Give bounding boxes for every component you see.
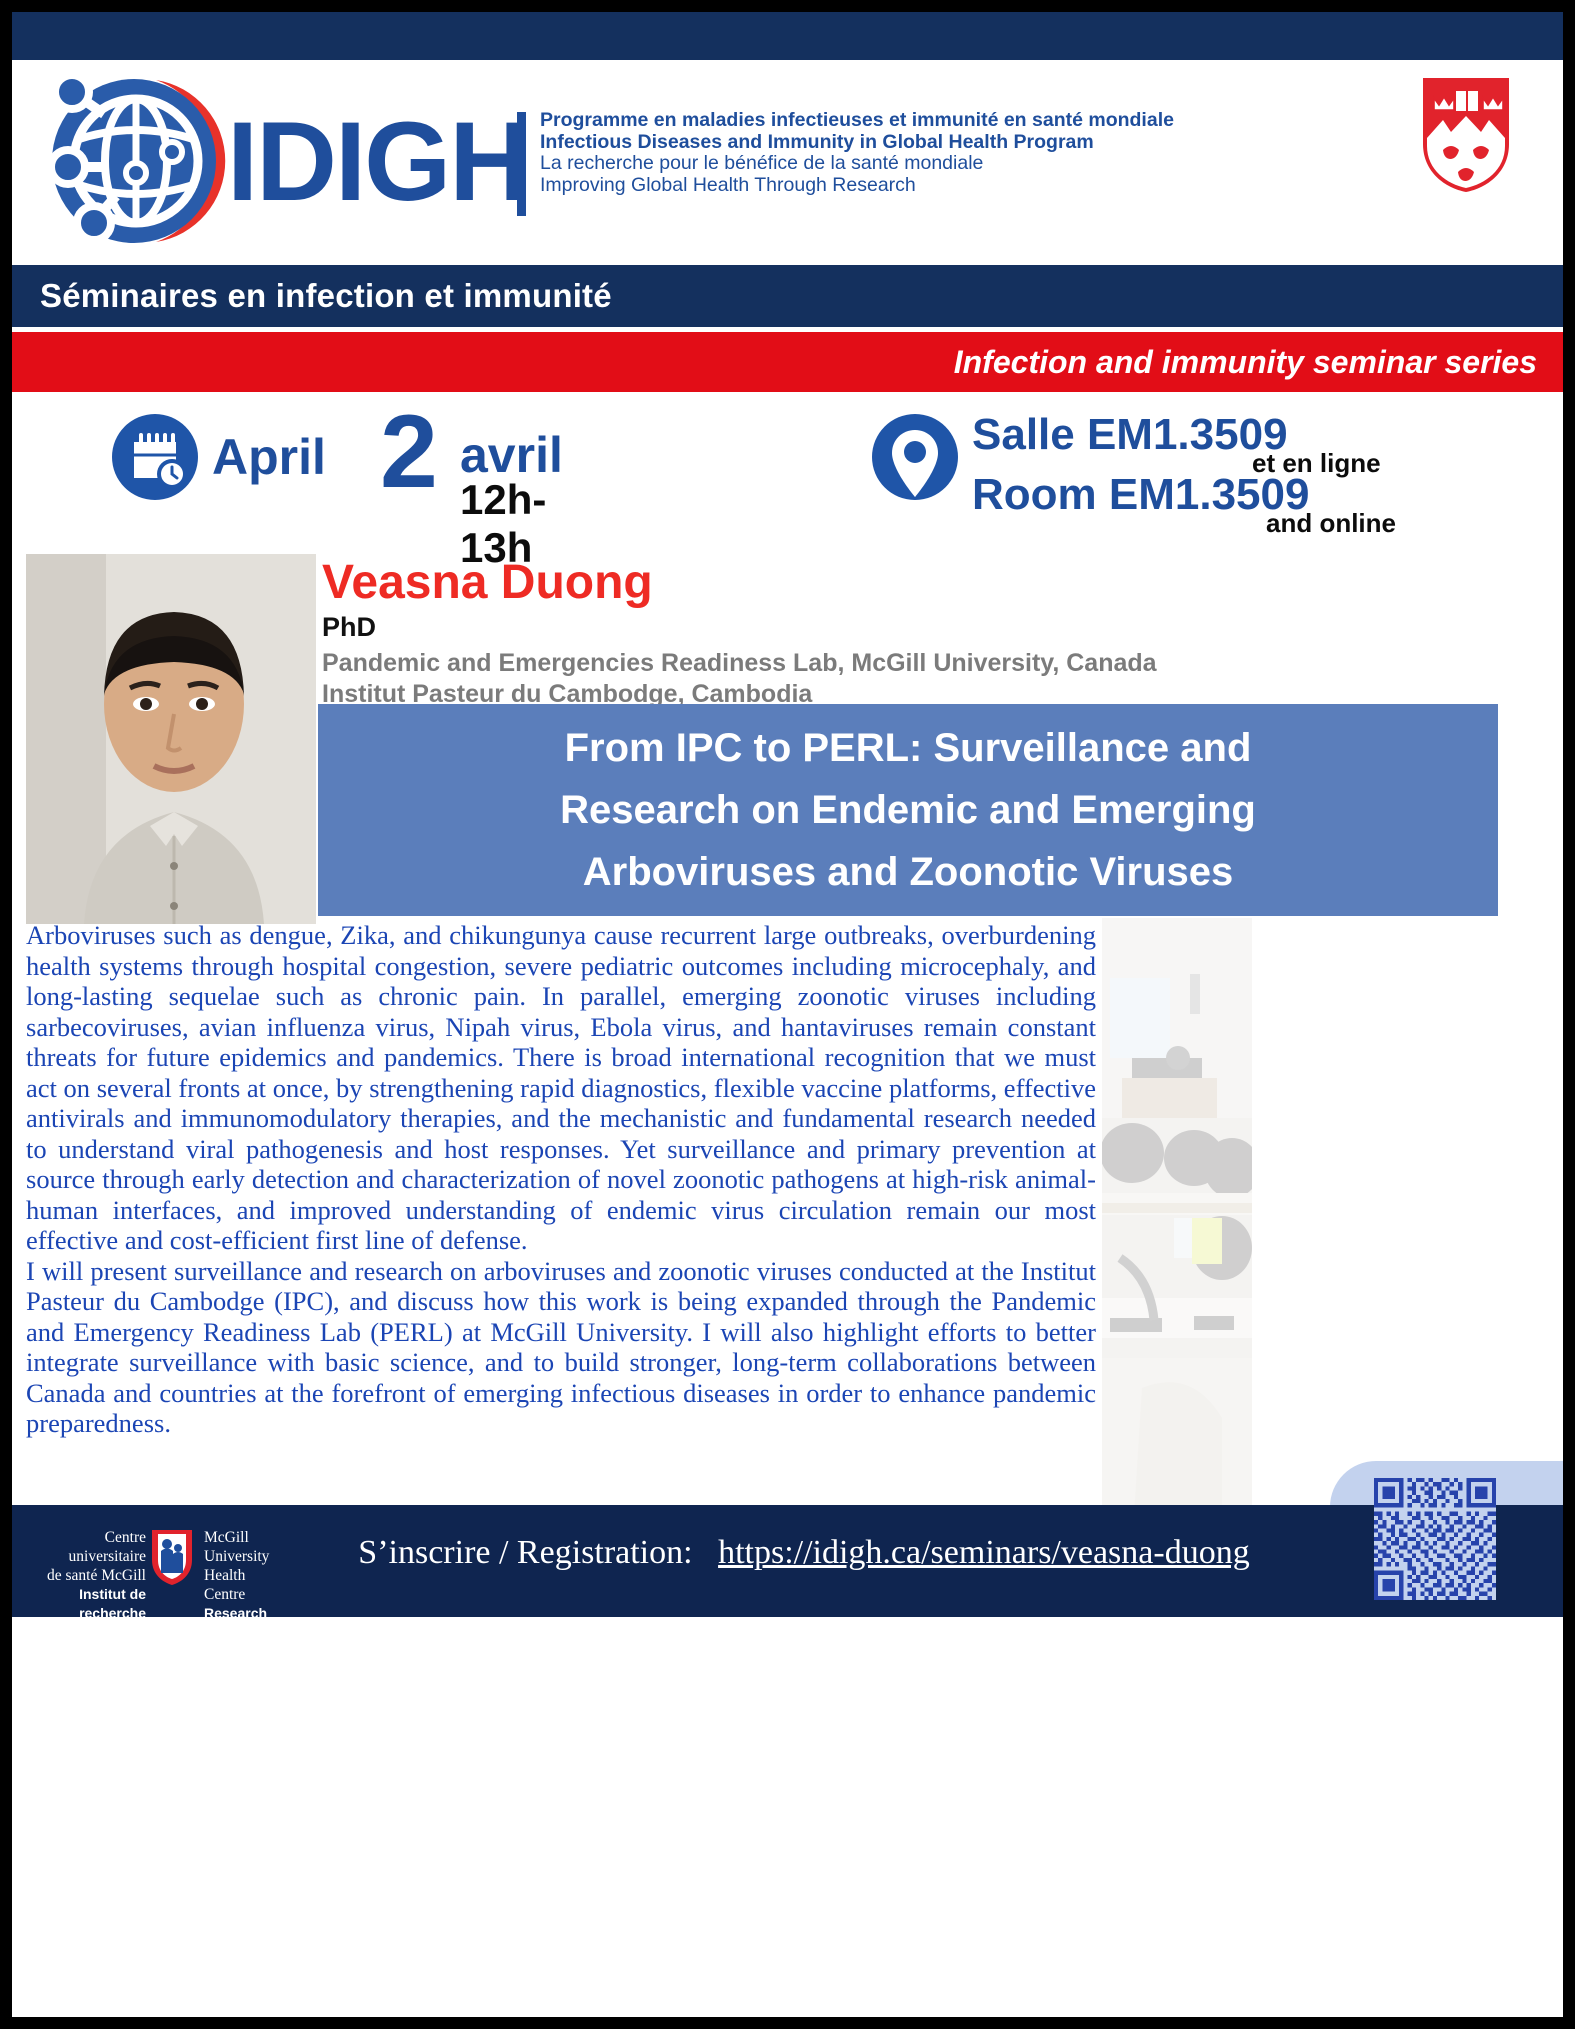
muhc-en-line-2: Health Centre [204,1566,282,1604]
tagline-fr: La recherche pour le bénéfice de la sant… [540,153,1174,175]
muhc-text-fr: Centre universitaire de santé McGill Ins… [32,1528,146,1623]
speaker-degree: PhD [322,612,376,643]
speaker-photo [26,554,316,924]
muhc-fr-line-3: Institut de recherche [32,1585,146,1623]
abstract-text: Arboviruses such as dengue, Zika, and ch… [26,920,1096,1439]
registration-link[interactable]: https://idigh.ca/seminars/veasna-duong [718,1534,1250,1571]
room-label-en: Room EM1.3509 [972,470,1309,520]
talk-title-line-3: Arboviruses and Zoonotic Viruses [318,841,1498,903]
series-band-en: Infection and immunity seminar series [12,332,1563,392]
muhc-fr-line-2: de santé McGill [32,1566,146,1585]
talk-title-panel: From IPC to PERL: Surveillance and Resea… [318,704,1498,916]
room-note-en: and online [1266,508,1396,539]
calendar-clock-icon [112,414,198,500]
program-name-en: Infectious Diseases and Immunity in Glob… [540,132,1174,154]
speaker-affiliation-1: Pandemic and Emergencies Readiness Lab, … [322,649,1157,678]
program-subtitle-block: Programme en maladies infectieuses et im… [540,110,1174,196]
muhc-logo: Centre universitaire de santé McGill Ins… [32,1528,282,1590]
seminar-poster: IDIGH Programme en maladies infectieuses… [0,0,1575,2029]
talk-title-line-2: Research on Endemic and Emerging [318,779,1498,841]
speaker-name: Veasna Duong [322,555,653,610]
series-band-fr: Séminaires en infection et immunité [12,265,1563,327]
registration-label: S’inscrire / Registration: [358,1534,692,1571]
muhc-fr-line-1: Centre universitaire [32,1528,146,1566]
program-name-fr: Programme en maladies infectieuses et im… [540,110,1174,132]
muhc-en-line-3: Research Institute [204,1604,282,1642]
abstract-paragraph-1: Arboviruses such as dengue, Zika, and ch… [26,920,1096,1256]
muhc-shield-icon [150,1528,194,1586]
idigh-wordmark: IDIGH [227,106,528,218]
wordmark-divider [517,112,526,216]
muhc-en-line-1: McGill University [204,1528,282,1566]
logo-header: IDIGH Programme en maladies infectieuses… [12,60,1563,260]
qr-code-icon[interactable] [1374,1478,1496,1600]
date-month-en: April [212,428,326,486]
registration-line: S’inscrire / Registration: https://idigh… [284,1534,1324,1572]
room-label-fr: Salle EM1.3509 [972,410,1288,460]
abstract-paragraph-2: I will present surveillance and research… [26,1256,1096,1439]
date-day-number: 2 [380,400,438,504]
muhc-text-en: McGill University Health Centre Research… [204,1528,282,1642]
idigh-globe-icon [44,72,229,250]
map-pin-icon [872,414,958,510]
top-navy-strip [12,12,1563,60]
mcgill-shield-icon [1421,76,1511,194]
series-title-en: Infection and immunity seminar series [954,344,1537,381]
talk-title-line-1: From IPC to PERL: Surveillance and [318,717,1498,779]
event-info-row: April 2 avril 12h-13h Salle EM1.3509 et … [12,392,1563,552]
tagline-en: Improving Global Health Through Research [540,175,1174,197]
poster-sheet: IDIGH Programme en maladies infectieuses… [12,12,1563,2017]
series-title-fr: Séminaires en infection et immunité [40,277,612,315]
